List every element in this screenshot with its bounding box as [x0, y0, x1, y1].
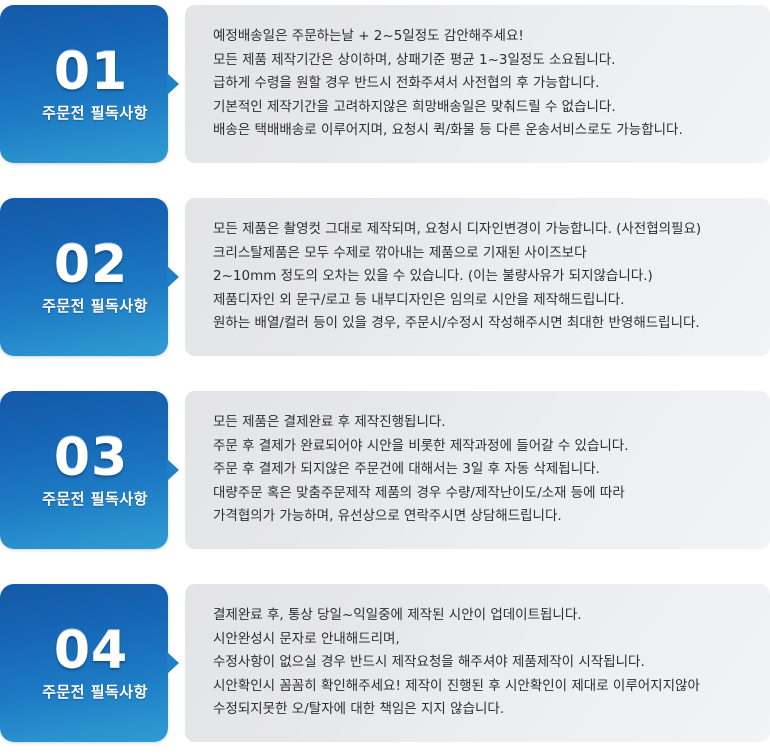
notice-line: 주문 후 결제가 되지않은 주문건에 대해서는 3일 후 자동 삭제됩니다.: [213, 458, 744, 482]
notice-panel: 예정배송일은 주문하는날 + 2~5일정도 감안해주세요!모든 제품 제작기간은…: [185, 5, 770, 163]
step-badge: 03주문전 필독사항: [0, 391, 168, 549]
notice-line: 수정되지못한 오/탈자에 대한 책임은 지지 않습니다.: [213, 698, 744, 722]
notice-line: 대량주문 혹은 맞춤주문제작 제품의 경우 수량/제작난이도/소재 등에 따라: [213, 482, 744, 506]
notice-block: 01주문전 필독사항예정배송일은 주문하는날 + 2~5일정도 감안해주세요!모…: [0, 5, 770, 163]
notice-line: 결제완료 후, 통상 당일~익일중에 제작된 시안이 업데이트됩니다.: [213, 604, 744, 628]
notice-line: 시안확인시 꼼꼼히 확인해주세요! 제작이 진행된 후 시안확인이 제대로 이루…: [213, 675, 744, 699]
notice-line: 주문 후 결제가 완료되어야 시안을 비롯한 제작과정에 들어갈 수 있습니다.: [213, 435, 744, 459]
notice-panel: 결제완료 후, 통상 당일~익일중에 제작된 시안이 업데이트됩니다.시안완성시…: [185, 584, 770, 742]
notice-line: 기본적인 제작기간을 고려하지않은 희망배송일은 맞춰드릴 수 없습니다.: [213, 96, 744, 120]
notice-line: 급하게 수령을 원할 경우 반드시 전화주셔서 사전협의 후 가능합니다.: [213, 72, 744, 96]
step-number: 01: [40, 46, 128, 98]
notice-line: 2~10mm 정도의 오차는 있을 수 있습니다. (이는 불량사유가 되지않습…: [213, 265, 744, 289]
notice-block: 03주문전 필독사항모든 제품은 결제완료 후 제작진행됩니다.주문 후 결제가…: [0, 391, 770, 549]
step-badge: 01주문전 필독사항: [0, 5, 168, 163]
notice-block: 02주문전 필독사항모든 제품은 촬영컷 그대로 제작되며, 요청시 디자인변경…: [0, 198, 770, 356]
notice-line: 제품디자인 외 문구/로고 등 내부디자인은 임의로 시안을 제작해드립니다.: [213, 289, 744, 313]
notice-line: 모든 제품은 촬영컷 그대로 제작되며, 요청시 디자인변경이 가능합니다. (…: [213, 218, 744, 242]
notice-block: 04주문전 필독사항결제완료 후, 통상 당일~익일중에 제작된 시안이 업데이…: [0, 584, 770, 742]
notice-line: 원하는 배열/컬러 등이 있을 경우, 주문시/수정시 작성해주시면 최대한 반…: [213, 312, 744, 336]
step-label: 주문전 필독사항: [20, 295, 148, 316]
notice-line: 크리스탈제품은 모두 수제로 깎아내는 제품으로 기재된 사이즈보다: [213, 242, 744, 266]
step-number: 02: [40, 239, 128, 291]
step-label: 주문전 필독사항: [20, 102, 148, 123]
notice-line: 시안완성시 문자로 안내해드리며,: [213, 628, 744, 652]
step-badge: 04주문전 필독사항: [0, 584, 168, 742]
step-badge: 02주문전 필독사항: [0, 198, 168, 356]
notice-list: 01주문전 필독사항예정배송일은 주문하는날 + 2~5일정도 감안해주세요!모…: [0, 0, 770, 742]
notice-line: 예정배송일은 주문하는날 + 2~5일정도 감안해주세요!: [213, 25, 744, 49]
step-number: 03: [40, 432, 128, 484]
notice-line: 배송은 택배배송로 이루어지며, 요청시 퀵/화물 등 다른 운송서비스로도 가…: [213, 119, 744, 143]
notice-line: 모든 제품은 결제완료 후 제작진행됩니다.: [213, 411, 744, 435]
step-number: 04: [40, 625, 128, 677]
notice-line: 모든 제품 제작기간은 상이하며, 상패기준 평균 1~3일정도 소요됩니다.: [213, 49, 744, 73]
notice-panel: 모든 제품은 결제완료 후 제작진행됩니다.주문 후 결제가 완료되어야 시안을…: [185, 391, 770, 549]
notice-panel: 모든 제품은 촬영컷 그대로 제작되며, 요청시 디자인변경이 가능합니다. (…: [185, 198, 770, 356]
step-label: 주문전 필독사항: [20, 488, 148, 509]
notice-line: 가격협의가 가능하며, 유선상으로 연락주시면 상담해드립니다.: [213, 505, 744, 529]
step-label: 주문전 필독사항: [20, 681, 148, 702]
notice-line: 수정사항이 없으실 경우 반드시 제작요청을 해주셔야 제품제작이 시작됩니다.: [213, 651, 744, 675]
